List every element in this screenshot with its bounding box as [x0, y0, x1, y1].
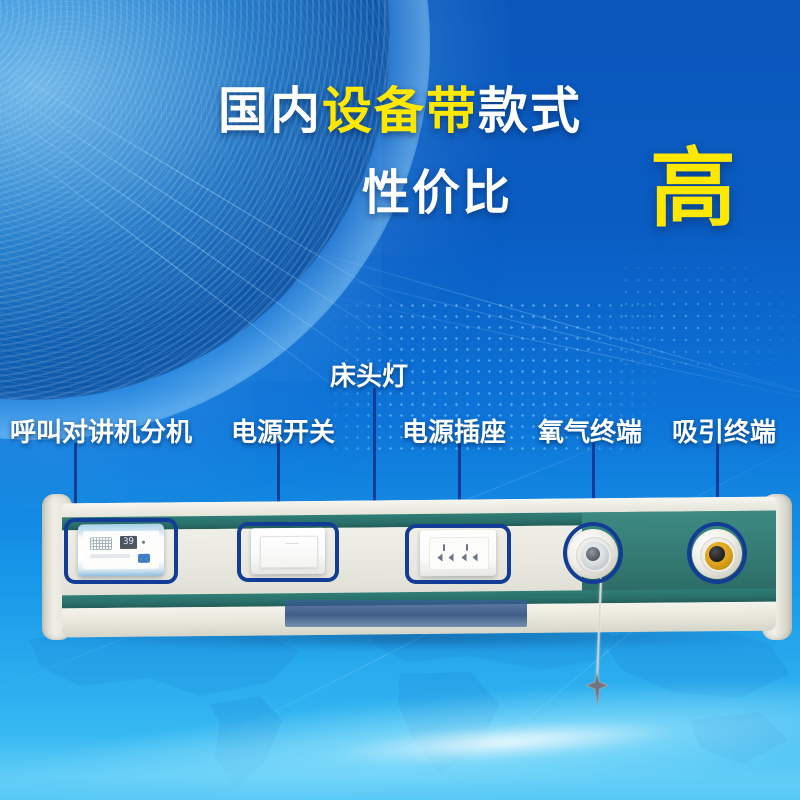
bed-lamp-slider[interactable] — [285, 600, 527, 627]
pull-cord-pendant-icon[interactable] — [583, 672, 611, 706]
promo-banner: 国内设备带款式 性价比 高 呼叫对讲机分机 电源开关 床头灯 电源插座 氧气终端… — [0, 0, 800, 800]
highlight-box-intercom — [64, 518, 178, 584]
headline-line-1: 国内设备带款式 — [0, 86, 800, 136]
callout-label-intercom: 呼叫对讲机分机 — [10, 412, 192, 449]
callout-label-power-switch: 电源开关 — [231, 412, 335, 449]
headline-part-2: 设备带 — [322, 83, 478, 139]
callout-label-bed-lamp: 床头灯 — [330, 356, 408, 393]
highlight-box-power-socket — [405, 524, 511, 584]
headline-emphasis: 高 — [650, 146, 736, 232]
highlight-circle-suction — [687, 522, 747, 584]
halftone-dot-field-secondary — [620, 250, 800, 370]
headline-part-1: 国内 — [218, 83, 322, 139]
highlight-box-power-switch — [237, 522, 339, 582]
headline-line-2: 性价比 — [362, 170, 512, 218]
headline-part-3: 款式 — [478, 83, 582, 139]
bottom-glow — [0, 735, 800, 800]
highlight-circle-oxygen — [563, 522, 623, 584]
callout-label-oxygen: 氧气终端 — [538, 412, 642, 449]
callout-label-power-socket: 电源插座 — [402, 412, 506, 449]
callout-label-suction: 吸引终端 — [672, 412, 776, 449]
